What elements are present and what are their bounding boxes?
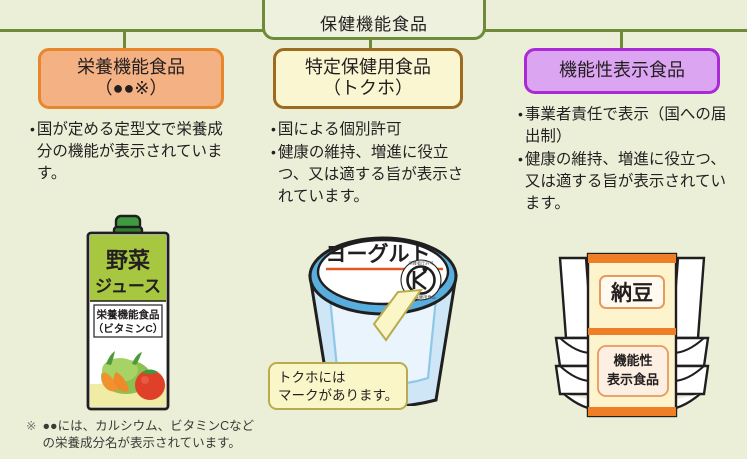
category-column-nutrient-function-claims: 栄養機能食品 （●●※） • 国が定める定型文で栄養成分の機能が表示されています… [28, 48, 234, 186]
natto-label: 納豆 [610, 281, 653, 305]
natto-claim-line1: 機能性 [613, 353, 652, 368]
illustration-natto-package: 納豆 機能性 表示食品 [542, 250, 722, 420]
carton-claim-line2: （ビタミンC） [93, 322, 164, 335]
illustration-vegetable-juice-carton: 野菜 ジュース 栄養機能食品 （ビタミンC） [76, 214, 180, 414]
list-item: • 国による個別許可 [271, 119, 477, 141]
description-list-2: • 国による個別許可 • 健康の維持、増進に役立つ、又は適する旨が表示されていま… [265, 119, 477, 208]
footnote-mark-icon: ※ [26, 418, 36, 451]
natto-claim-line2: 表示食品 [606, 372, 659, 387]
footnote: ※ ●●には、カルシウム、ビタミンCなどの栄養成分名が表示されています。 [26, 418, 256, 451]
bullet-text: 国による個別許可 [278, 119, 477, 141]
bullet-dot-icon: • [518, 104, 523, 124]
bullet-text: 事業者責任で表示（国への届出制） [525, 104, 736, 148]
bullet-dot-icon: • [271, 119, 276, 139]
callout-line2: マークがあります。 [278, 387, 400, 405]
carton-label-line1: 野菜 [106, 248, 150, 273]
category-box-tokuho[interactable]: 特定保健用食品 （トクホ） [273, 48, 463, 109]
list-item: • 健康の維持、増進に役立つ、又は適する旨が表示されています。 [271, 142, 477, 208]
category-column-function-claims: 機能性表示食品 • 事業者責任で表示（国への届出制） • 健康の維持、増進に役立… [514, 48, 736, 216]
callout-tokuho-mark: トクホには マークがあります。 [268, 362, 408, 410]
bullet-text: 健康の維持、増進に役立つ、又は適する旨が表示されています。 [525, 149, 736, 215]
category-box-function-claims[interactable]: 機能性表示食品 [524, 48, 720, 94]
footnote-text: ●●には、カルシウム、ビタミンCなどの栄養成分名が表示されています。 [42, 418, 256, 451]
category-title-line2: （●●※） [45, 78, 217, 99]
list-item: • 事業者責任で表示（国への届出制） [518, 104, 736, 148]
category-box-nutrient-function-claims[interactable]: 栄養機能食品 （●●※） [38, 48, 224, 109]
category-title-line1: 機能性表示食品 [531, 60, 713, 81]
svg-text:消費者庁許可: 消費者庁許可 [408, 260, 433, 267]
page-title: 保健機能食品 [320, 16, 428, 33]
bullet-text: 健康の維持、増進に役立つ、又は適する旨が表示されています。 [278, 142, 477, 208]
carton-label-line2: ジュース [95, 277, 161, 296]
carton-claim-line1: 栄養機能食品 [96, 308, 160, 321]
diagram-canvas: 保健機能食品 栄養機能食品 （●●※） • 国が定める定型文で栄養成分の機能が表… [0, 0, 747, 459]
list-item: • 健康の維持、増進に役立つ、又は適する旨が表示されています。 [518, 149, 736, 215]
callout-line1: トクホには [278, 369, 400, 387]
category-title-line1: 栄養機能食品 [45, 57, 217, 78]
bullet-dot-icon: • [30, 119, 35, 139]
header-box: 保健機能食品 [262, 0, 486, 40]
category-title-line2: （トクホ） [280, 78, 456, 99]
list-item: • 国が定める定型文で栄養成分の機能が表示されています。 [30, 119, 234, 185]
category-column-tokuho: 特定保健用食品 （トクホ） • 国による個別許可 • 健康の維持、増進に役立つ、… [265, 48, 477, 209]
bullet-dot-icon: • [518, 149, 523, 169]
description-list-1: • 国が定める定型文で栄養成分の機能が表示されています。 [28, 119, 234, 185]
description-list-3: • 事業者責任で表示（国への届出制） • 健康の維持、増進に役立つ、又は適する旨… [514, 104, 736, 215]
bullet-dot-icon: • [271, 142, 276, 162]
bullet-text: 国が定める定型文で栄養成分の機能が表示されています。 [37, 119, 234, 185]
category-title-line1: 特定保健用食品 [280, 57, 456, 78]
